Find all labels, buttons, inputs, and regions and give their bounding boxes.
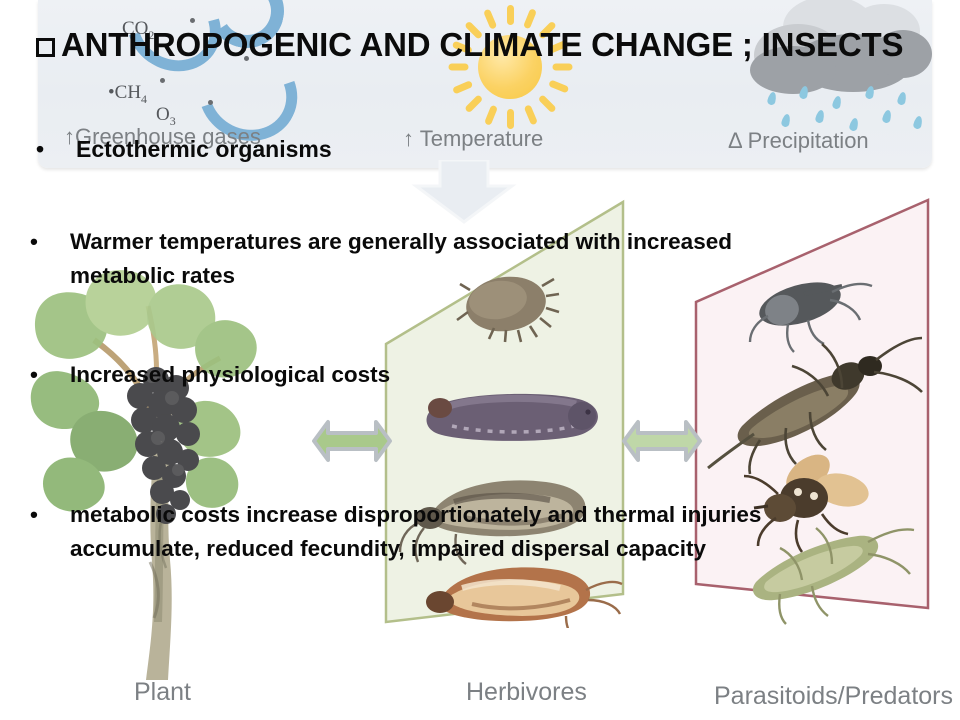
- sun-ray: [538, 94, 557, 113]
- raindrop-icon: [767, 91, 778, 106]
- molecule-ch4: •CH4: [108, 82, 147, 107]
- bullet-marker: •: [30, 225, 58, 259]
- bullet-marker: •: [30, 358, 58, 392]
- bullet-item: • metabolic costs increase disproportion…: [30, 498, 870, 566]
- bullet-item: • Ectothermic organisms: [36, 132, 516, 166]
- bullet-item: • Increased physiological costs: [30, 358, 590, 392]
- bullet-text: Ectothermic organisms: [76, 132, 516, 166]
- raindrop-icon: [781, 113, 792, 128]
- plant-herbivore-arrow-icon: [310, 414, 394, 468]
- bullet-text: Increased physiological costs: [70, 358, 590, 392]
- climate-driver-arrow-icon: [408, 160, 520, 224]
- sun-ray: [548, 79, 569, 93]
- checkbox-square-icon: [36, 38, 55, 57]
- bullet-item: • Warmer temperatures are generally asso…: [30, 225, 790, 293]
- page-title: ANTHROPOGENIC AND CLIMATE CHANGE ; INSEC…: [36, 26, 936, 64]
- sun-ray: [452, 80, 473, 94]
- sun-ray: [449, 64, 469, 71]
- raindrop-icon: [882, 109, 893, 124]
- slide-canvas: CO2 •CH4 O3 ↑Greenhouse gases: [0, 0, 960, 720]
- sun-ray: [524, 104, 538, 125]
- sun-ray: [464, 94, 483, 113]
- caption-herbivores: Herbivores: [466, 678, 587, 707]
- bullet-marker: •: [36, 132, 64, 166]
- bullet-text: metabolic costs increase disproportionat…: [70, 498, 870, 566]
- particle-dot: [160, 78, 165, 83]
- plant-illustration: [30, 262, 260, 682]
- sun-ray: [507, 5, 514, 25]
- page-title-text: ANTHROPOGENIC AND CLIMATE CHANGE ; INSEC…: [61, 26, 903, 63]
- caption-parasitoids-predators: Parasitoids/Predators: [714, 682, 953, 711]
- raindrop-icon: [897, 91, 908, 106]
- particle-dot: [190, 18, 195, 23]
- sun-ray: [484, 105, 498, 126]
- herbivore-predator-arrow-icon: [620, 414, 704, 468]
- caption-plant: Plant: [134, 678, 191, 707]
- particle-dot: [208, 100, 213, 105]
- raindrop-icon: [913, 115, 924, 130]
- precipitation-label: Δ Precipitation: [728, 128, 869, 154]
- caterpillar: [427, 394, 598, 441]
- sun-ray: [553, 64, 573, 71]
- raindrop-icon: [832, 95, 843, 110]
- bullet-marker: •: [30, 498, 58, 532]
- raindrop-icon: [815, 109, 826, 124]
- bullet-text: Warmer temperatures are generally associ…: [70, 225, 790, 293]
